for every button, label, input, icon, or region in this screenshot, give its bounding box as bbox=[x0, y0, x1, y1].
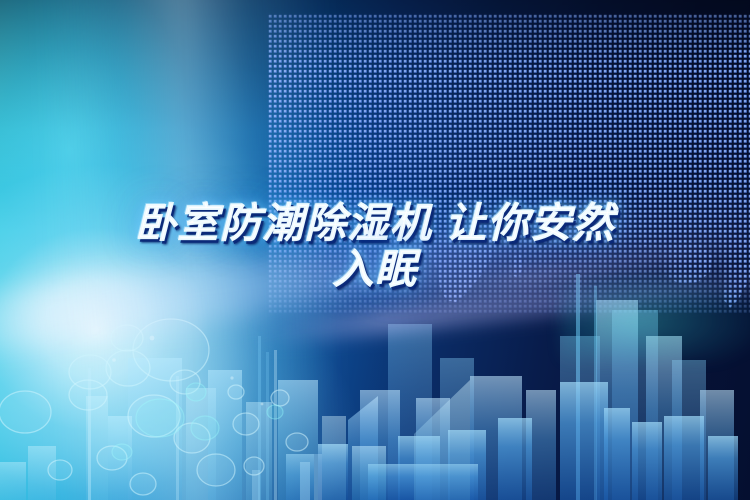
hero-banner: 卧室防潮除湿机 让你安然 入眠 bbox=[0, 0, 750, 500]
headline-line-1: 卧室防潮除湿机 让你安然 bbox=[0, 200, 750, 246]
headline-block: 卧室防潮除湿机 让你安然 入眠 bbox=[0, 200, 750, 292]
headline-line-2: 入眠 bbox=[0, 246, 750, 292]
